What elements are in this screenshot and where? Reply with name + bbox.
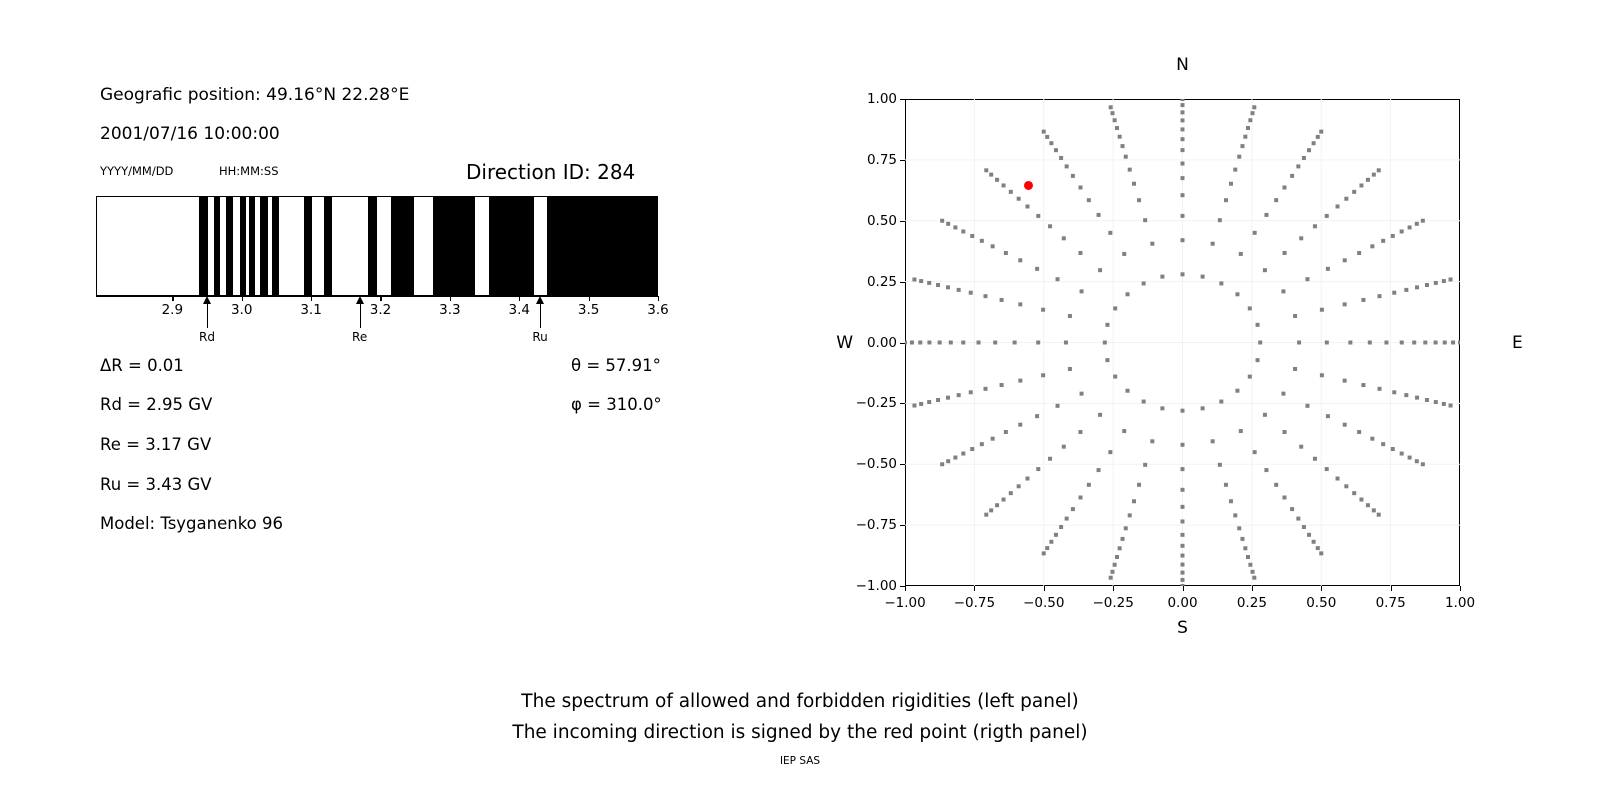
direction-point [1113,118,1117,122]
y-tick-label: 0.50 [867,213,897,229]
direction-point [1137,198,1141,202]
direction-point [1109,576,1113,580]
direction-point [1009,491,1013,495]
direction-point [961,452,965,456]
y-tick-label: 1.00 [867,91,897,107]
x-tick-label: 3.0 [231,302,252,318]
direction-point [912,277,916,281]
forbidden-band [304,197,312,295]
direction-point [1290,174,1294,178]
forbidden-band [324,197,332,295]
param-re: Re = 3.17 GV [100,435,211,454]
direction-point [1253,231,1257,235]
x-tick-label: 2.9 [162,302,183,318]
y-tick-label: −1.00 [856,578,897,594]
direction-point [1283,430,1287,434]
direction-point [984,168,988,172]
x-tick-mark [172,296,173,301]
geographic-position-label: Geografic position: 49.16°N 22.28°E [100,85,409,105]
direction-point [980,239,984,243]
direction-point [1357,251,1361,255]
direction-point [1035,414,1039,418]
x-tick-label: 3.1 [300,302,321,318]
direction-point [1059,525,1063,529]
direction-point [957,393,961,397]
direction-point [946,222,950,226]
direction-point [1248,563,1252,567]
direction-point [1181,162,1185,166]
x-tick-mark [589,296,590,301]
arrow-shaft [540,300,541,328]
direction-point [1421,462,1425,466]
direction-point [1045,135,1049,139]
direction-point [1233,168,1237,172]
direction-point [1344,197,1348,201]
direction-point [1181,409,1185,413]
direction-point [912,404,916,408]
time-format-hint: HH:MM:SS [219,164,279,178]
direction-point [1391,234,1395,238]
direction-point [961,341,965,345]
direction-point [940,219,944,223]
direction-point [1293,314,1297,318]
direction-point [1025,477,1029,481]
direction-point [1425,283,1429,287]
direction-point [1283,251,1287,255]
direction-point [1246,126,1250,130]
direction-point [1049,141,1053,145]
direction-point [1307,533,1311,537]
direction-point [1124,526,1128,530]
direction-point [1002,498,1006,502]
direction-point [1108,450,1112,454]
date-format-hint: YYYY/MM/DD [100,164,173,178]
direction-point [1237,526,1241,530]
arrow-shaft [207,300,208,328]
direction-point [1449,277,1453,281]
direction-point [1036,467,1040,471]
direction-point [1408,456,1412,460]
direction-point [1150,439,1154,443]
direction-point [1392,291,1396,295]
x-tick-mark [905,586,906,591]
direction-point [946,285,950,289]
forbidden-band [368,197,378,295]
direction-point [1336,204,1340,208]
direction-point [1256,358,1260,362]
direction-point [1344,484,1348,488]
direction-point [1352,190,1356,194]
direction-point [1004,251,1008,255]
direction-point [1132,182,1136,186]
y-tick-label: 0.00 [867,335,897,351]
direction-point [1143,463,1147,467]
x-tick-mark [380,296,381,301]
direction-point [1103,341,1107,345]
direction-point [970,234,974,238]
x-tick-mark [519,296,520,301]
caption-line-2: The incoming direction is signed by the … [0,717,1600,748]
direction-point [1080,392,1084,396]
direction-point [1404,393,1408,397]
spectrum-band-container [96,196,658,296]
direction-point [1071,174,1075,178]
direction-point [1059,156,1063,160]
direction-point [1211,439,1215,443]
direction-point [1229,499,1233,503]
direction-point [1343,258,1347,262]
y-tick-mark [900,343,905,344]
direction-point [1293,367,1297,371]
direction-point [1251,111,1255,115]
direction-point [1219,400,1223,404]
direction-point [1434,341,1438,345]
direction-point [1068,314,1072,318]
direction-point [1233,513,1237,517]
direction-point [918,341,922,345]
param-delta-r: ΔR = 0.01 [100,356,184,375]
direction-point [1235,389,1239,393]
direction-point [1071,507,1075,511]
direction-point [1113,375,1117,379]
direction-point [1415,222,1419,226]
direction-point [1181,554,1185,558]
x-tick-mark [974,586,975,591]
y-tick-label: −0.75 [856,517,897,533]
direction-point [1400,341,1404,345]
direction-point [1160,275,1164,279]
direction-point [1000,383,1004,387]
direction-point [1408,225,1412,229]
compass-label-south: S [1177,618,1188,638]
direction-point [1018,423,1022,427]
scatter-points-layer [905,99,1460,586]
x-tick-label: 3.3 [439,302,460,318]
x-tick-label: −1.00 [884,595,925,611]
x-tick-mark [1391,586,1392,591]
direction-point [1054,148,1058,152]
direction-point [927,400,931,404]
direction-point [1181,519,1185,523]
direction-point [1181,193,1185,197]
direction-point [936,283,940,287]
direction-point [1296,517,1300,521]
compass-label-north: N [1176,55,1189,75]
x-tick-mark [658,296,659,301]
figure-caption: The spectrum of allowed and forbidden ri… [0,686,1600,748]
y-tick-mark [900,282,905,283]
direction-point [1421,219,1425,223]
direction-point [1264,468,1268,472]
rigidity-axis: 2.93.03.13.23.33.43.53.6 [96,296,658,304]
y-tick-mark [900,99,905,100]
direction-point [1412,341,1416,345]
direction-point [1118,135,1122,139]
direction-point [1132,499,1136,503]
direction-point [910,341,914,345]
direction-point [1224,198,1228,202]
direction-point [1243,135,1247,139]
direction-point [1048,224,1052,228]
direction-point [1378,387,1382,391]
direction-point [1370,437,1374,441]
x-tick-label: 0.75 [1376,595,1406,611]
x-tick-mark [242,296,243,301]
direction-point [1263,413,1267,417]
direction-point [1181,533,1185,537]
direction-point [1400,452,1404,456]
direction-point [969,291,973,295]
direction-point [1181,99,1185,101]
direction-point [1035,267,1039,271]
direction-point [1000,298,1004,302]
direction-point [1281,289,1285,293]
direction-point [1240,144,1244,148]
direction-point [1400,229,1404,233]
y-tick-mark [900,221,905,222]
direction-point [977,341,981,345]
forbidden-band [240,197,246,295]
param-ru: Ru = 3.43 GV [100,475,212,494]
forbidden-band [433,197,475,295]
direction-point [984,513,988,517]
direction-point [1201,275,1205,279]
direction-point [1336,477,1340,481]
direction-point [1181,110,1185,114]
direction-point [1181,488,1185,492]
direction-point [1036,341,1040,345]
direction-point [1041,308,1045,312]
direction-point [1302,156,1306,160]
direction-point [1312,540,1316,544]
direction-point [1248,306,1252,310]
caption-line-1: The spectrum of allowed and forbidden ri… [0,686,1600,717]
marker-label: Re [352,330,367,344]
direction-point [995,503,999,507]
x-tick-label: 3.4 [508,302,529,318]
x-tick-mark [1183,586,1184,591]
direction-point [938,341,942,345]
direction-point [970,447,974,451]
x-tick-label: 0.00 [1167,595,1197,611]
direction-point [1042,130,1046,134]
direction-point [1121,537,1125,541]
direction-point [1239,252,1243,256]
direction-point [1320,373,1324,377]
direction-point [1319,551,1323,555]
direction-point [1442,402,1446,406]
x-tick-mark [311,296,312,301]
direction-point [1009,190,1013,194]
x-tick-label: 3.5 [578,302,599,318]
arrow-shaft [360,300,361,328]
direction-point [919,402,923,406]
direction-point [1078,430,1082,434]
direction-point [1343,423,1347,427]
direction-point [1252,576,1256,580]
direction-point [1079,186,1083,190]
direction-point [1366,178,1370,182]
direction-point [995,178,999,182]
direction-point [1391,447,1395,451]
y-tick-mark [900,160,905,161]
direction-point [1041,373,1045,377]
direction-point [1080,289,1084,293]
direction-point [1181,148,1185,152]
y-tick-mark [900,464,905,465]
direction-point [1122,429,1126,433]
direction-point [989,508,993,512]
direction-point [1018,379,1022,383]
direction-point [1065,517,1069,521]
direction-point [1361,383,1365,387]
direction-scatter-chart: N S W E −1.00−0.75−0.50−0.250.000.250.50… [905,99,1460,586]
direction-point [1348,341,1352,345]
direction-point [1097,213,1101,217]
direction-point [1137,483,1141,487]
selected-direction-point [1024,181,1033,190]
forbidden-band [547,197,658,295]
direction-point [1361,298,1365,302]
param-phi: φ = 310.0° [571,395,662,414]
direction-point [1108,231,1112,235]
direction-point [1110,111,1114,115]
direction-point [1248,118,1252,122]
direction-point [1109,105,1113,109]
direction-point [1377,513,1381,517]
direction-point [1384,341,1388,345]
direction-point [1045,546,1049,550]
direction-point [1253,450,1257,454]
direction-point [1239,429,1243,433]
direction-point [1115,555,1119,559]
direction-point [1065,164,1069,168]
footer-credit: IEP SAS [0,755,1600,767]
direction-point [961,229,965,233]
direction-point [1246,555,1250,559]
direction-point [957,288,961,292]
direction-point [919,279,923,283]
forbidden-band [391,197,414,295]
direction-point [1377,168,1381,172]
direction-point [1142,281,1146,285]
direction-point [936,398,940,402]
direction-point [1181,544,1185,548]
x-tick-mark [1252,586,1253,591]
direction-point [1056,404,1060,408]
direction-point [1181,272,1185,276]
direction-point [1282,186,1286,190]
direction-id-label: Direction ID: 284 [466,160,635,184]
direction-point [1079,495,1083,499]
direction-point [1312,141,1316,145]
direction-point [1357,430,1361,434]
direction-point [1274,198,1278,202]
x-tick-mark [1113,586,1114,591]
axis-line [96,296,658,297]
direction-point [1307,148,1311,152]
direction-point [1434,400,1438,404]
direction-point [953,225,957,229]
direction-point [1118,546,1122,550]
direction-point [1018,302,1022,306]
direction-point [1201,406,1205,410]
direction-point [949,341,953,345]
direction-point [983,387,987,391]
direction-point [1048,457,1052,461]
direction-point [1025,204,1029,208]
direction-point [1370,244,1374,248]
marker-label: Ru [532,330,547,344]
x-tick-label: −0.25 [1092,595,1133,611]
direction-point [1181,176,1185,180]
direction-point [1313,457,1317,461]
direction-point [1056,277,1060,281]
direction-point [1181,214,1185,218]
x-tick-mark [1321,586,1322,591]
direction-point [1181,118,1185,122]
direction-point [1224,483,1228,487]
x-tick-label: 0.50 [1306,595,1336,611]
direction-point [983,294,987,298]
direction-point [1381,442,1385,446]
direction-point [1113,563,1117,567]
x-tick-mark [1044,586,1045,591]
direction-point [1113,306,1117,310]
direction-point [1325,214,1329,218]
direction-point [1343,379,1347,383]
direction-point [1434,281,1438,285]
direction-point [1256,323,1260,327]
direction-point [1211,242,1215,246]
forbidden-band [489,197,534,295]
direction-point [1042,551,1046,555]
direction-point [1372,508,1376,512]
direction-point [1218,463,1222,467]
direction-point [1326,267,1330,271]
forbidden-band [272,197,280,295]
direction-point [1054,533,1058,537]
y-tick-label: 0.75 [867,152,897,168]
forbidden-band [226,197,233,295]
x-tick-label: −0.75 [954,595,995,611]
rigidity-spectrum-panel: Geografic position: 49.16°N 22.28°E 2001… [0,0,760,800]
direction-point [1443,341,1447,345]
direction-point [1343,302,1347,306]
param-model: Model: Tsyganenko 96 [100,514,283,533]
direction-point [1110,570,1114,574]
direction-point [1098,413,1102,417]
direction-point [989,173,993,177]
direction-point [1404,288,1408,292]
datetime-label: 2001/07/16 10:00:00 [100,124,280,144]
forbidden-band [249,197,255,295]
direction-point [991,244,995,248]
direction-point [1305,277,1309,281]
direction-point [1316,546,1320,550]
direction-point [1062,236,1066,240]
direction-point [927,341,931,345]
direction-point [1281,392,1285,396]
direction-point [1121,144,1125,148]
direction-point [1296,164,1300,168]
x-tick-label: 1.00 [1445,595,1475,611]
direction-point [1425,398,1429,402]
direction-point [1320,308,1324,312]
direction-point [1449,404,1453,408]
direction-point [1181,137,1185,141]
direction-point [953,456,957,460]
